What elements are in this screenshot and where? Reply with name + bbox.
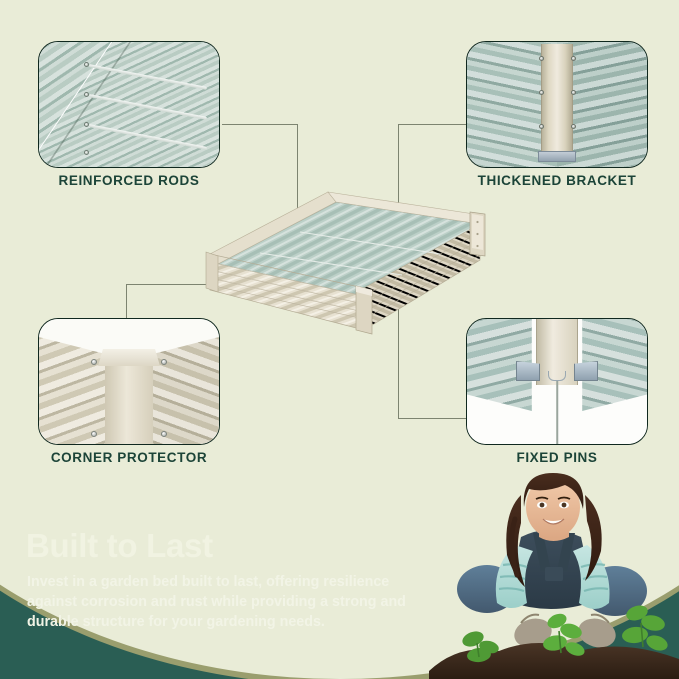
callout-thickened-bracket[interactable]: THICKENED BRACKET [466,41,648,168]
connector-line-fixed-pins-h [398,418,466,419]
bracket-screw [539,56,544,61]
callout-frame-fixed-pins [466,318,648,445]
callout-fixed-pins[interactable]: FIXED PINS [466,318,648,445]
bracket-screw [539,90,544,95]
corner-screw [91,359,97,365]
corner-protector-cap [98,349,160,366]
fixed-pin-right [574,361,598,381]
callout-frame-reinforced-rods [38,41,220,168]
connector-line-corner-protector-v [126,284,127,318]
fixed-pin-left [516,361,540,381]
bracket-screw [539,124,544,129]
callout-frame-corner-protector [38,318,220,445]
rod-bolt [84,150,89,155]
callout-reinforced-rods[interactable]: REINFORCED RODS [38,41,220,168]
banner-headline: Built to Last [26,527,213,565]
gardener-photo [429,471,679,679]
bracket-foot [538,151,576,162]
corner-screw [161,431,167,437]
callout-label-thickened-bracket: THICKENED BRACKET [466,173,648,188]
floor-seam [556,381,558,445]
callout-label-corner-protector: CORNER PROTECTOR [38,450,220,465]
callout-frame-thickened-bracket [466,41,648,168]
connector-line-thickened-bracket-h [398,124,466,125]
bracket-screw [571,56,576,61]
corner-post [105,364,153,444]
product-illustration [140,178,540,338]
infographic-root: REINFORCED RODS THICKENED BRACKET [0,0,679,679]
bracket-screw [571,90,576,95]
corner-screw [91,431,97,437]
rod-bolt [84,92,89,97]
bottom-banner: Built to Last Invest in a garden bed bui… [0,469,679,679]
connector-line-reinforced-rods-h [222,124,298,125]
corner-screw [161,359,167,365]
banner-body-text: Invest in a garden bed built to last, of… [27,572,417,632]
bracket-screw [571,124,576,129]
callout-corner-protector[interactable]: CORNER PROTECTOR [38,318,220,445]
callout-label-reinforced-rods: REINFORCED RODS [38,173,220,188]
pin-clip-wire [548,371,566,381]
callout-label-fixed-pins: FIXED PINS [466,450,648,465]
rod-bolt [84,62,89,67]
rod-bolt [84,122,89,127]
bracket-body [541,44,573,160]
